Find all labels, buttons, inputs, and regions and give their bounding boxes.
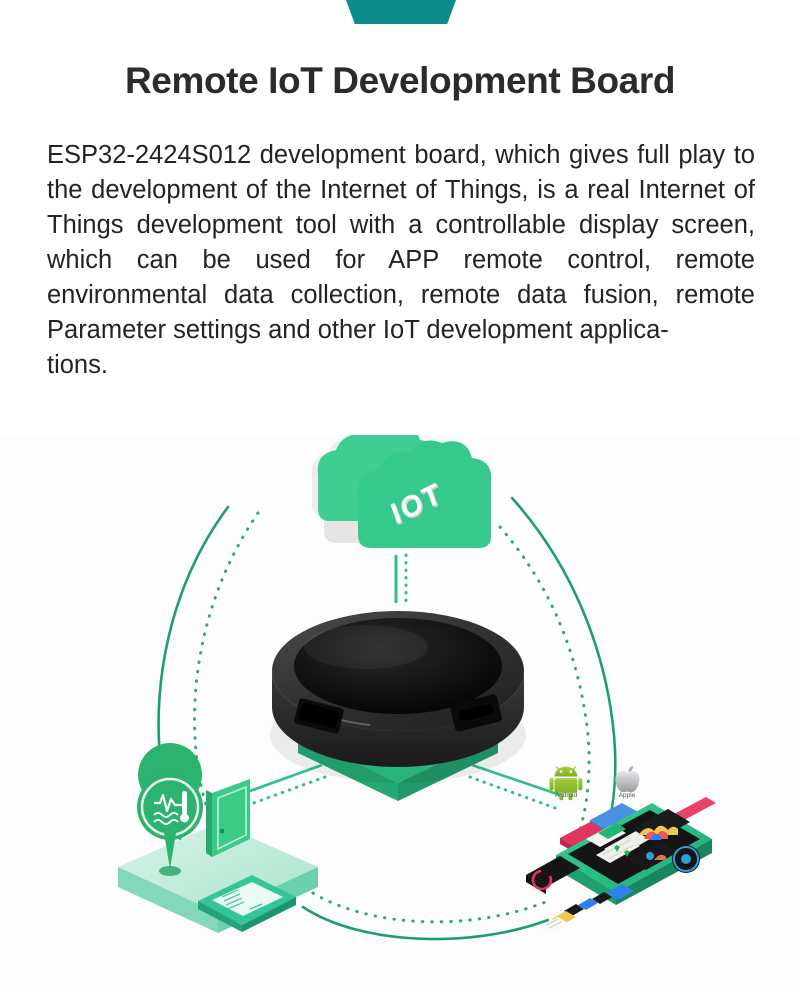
top-accent-bar bbox=[0, 0, 800, 26]
arc-bottom-dotted bbox=[305, 888, 548, 922]
cloud-group bbox=[312, 435, 491, 603]
product-banner-page: Remote IoT Development Board ESP32-2424S… bbox=[0, 0, 800, 988]
product-description: ESP32-2424S012 development board, which … bbox=[47, 138, 755, 383]
round-dev-board bbox=[270, 611, 526, 783]
apple-logo bbox=[615, 766, 639, 792]
page-title: Remote IoT Development Board bbox=[0, 60, 800, 102]
left-scene bbox=[118, 743, 318, 933]
small-icon-row bbox=[540, 884, 634, 933]
tab-trapezoid-shape bbox=[346, 0, 456, 24]
pedestal-link-left-dotted bbox=[248, 777, 325, 805]
illustration-canvas bbox=[0, 435, 800, 988]
right-scene bbox=[526, 766, 716, 933]
apple-label: Apple bbox=[602, 792, 652, 799]
description-last-line: tions. bbox=[47, 348, 755, 383]
description-text: ESP32-2424S012 development board, which … bbox=[47, 141, 755, 344]
arc-bottom-solid bbox=[303, 907, 548, 939]
iot-illustration: IOT bbox=[0, 435, 800, 988]
android-label: Android bbox=[541, 792, 591, 799]
